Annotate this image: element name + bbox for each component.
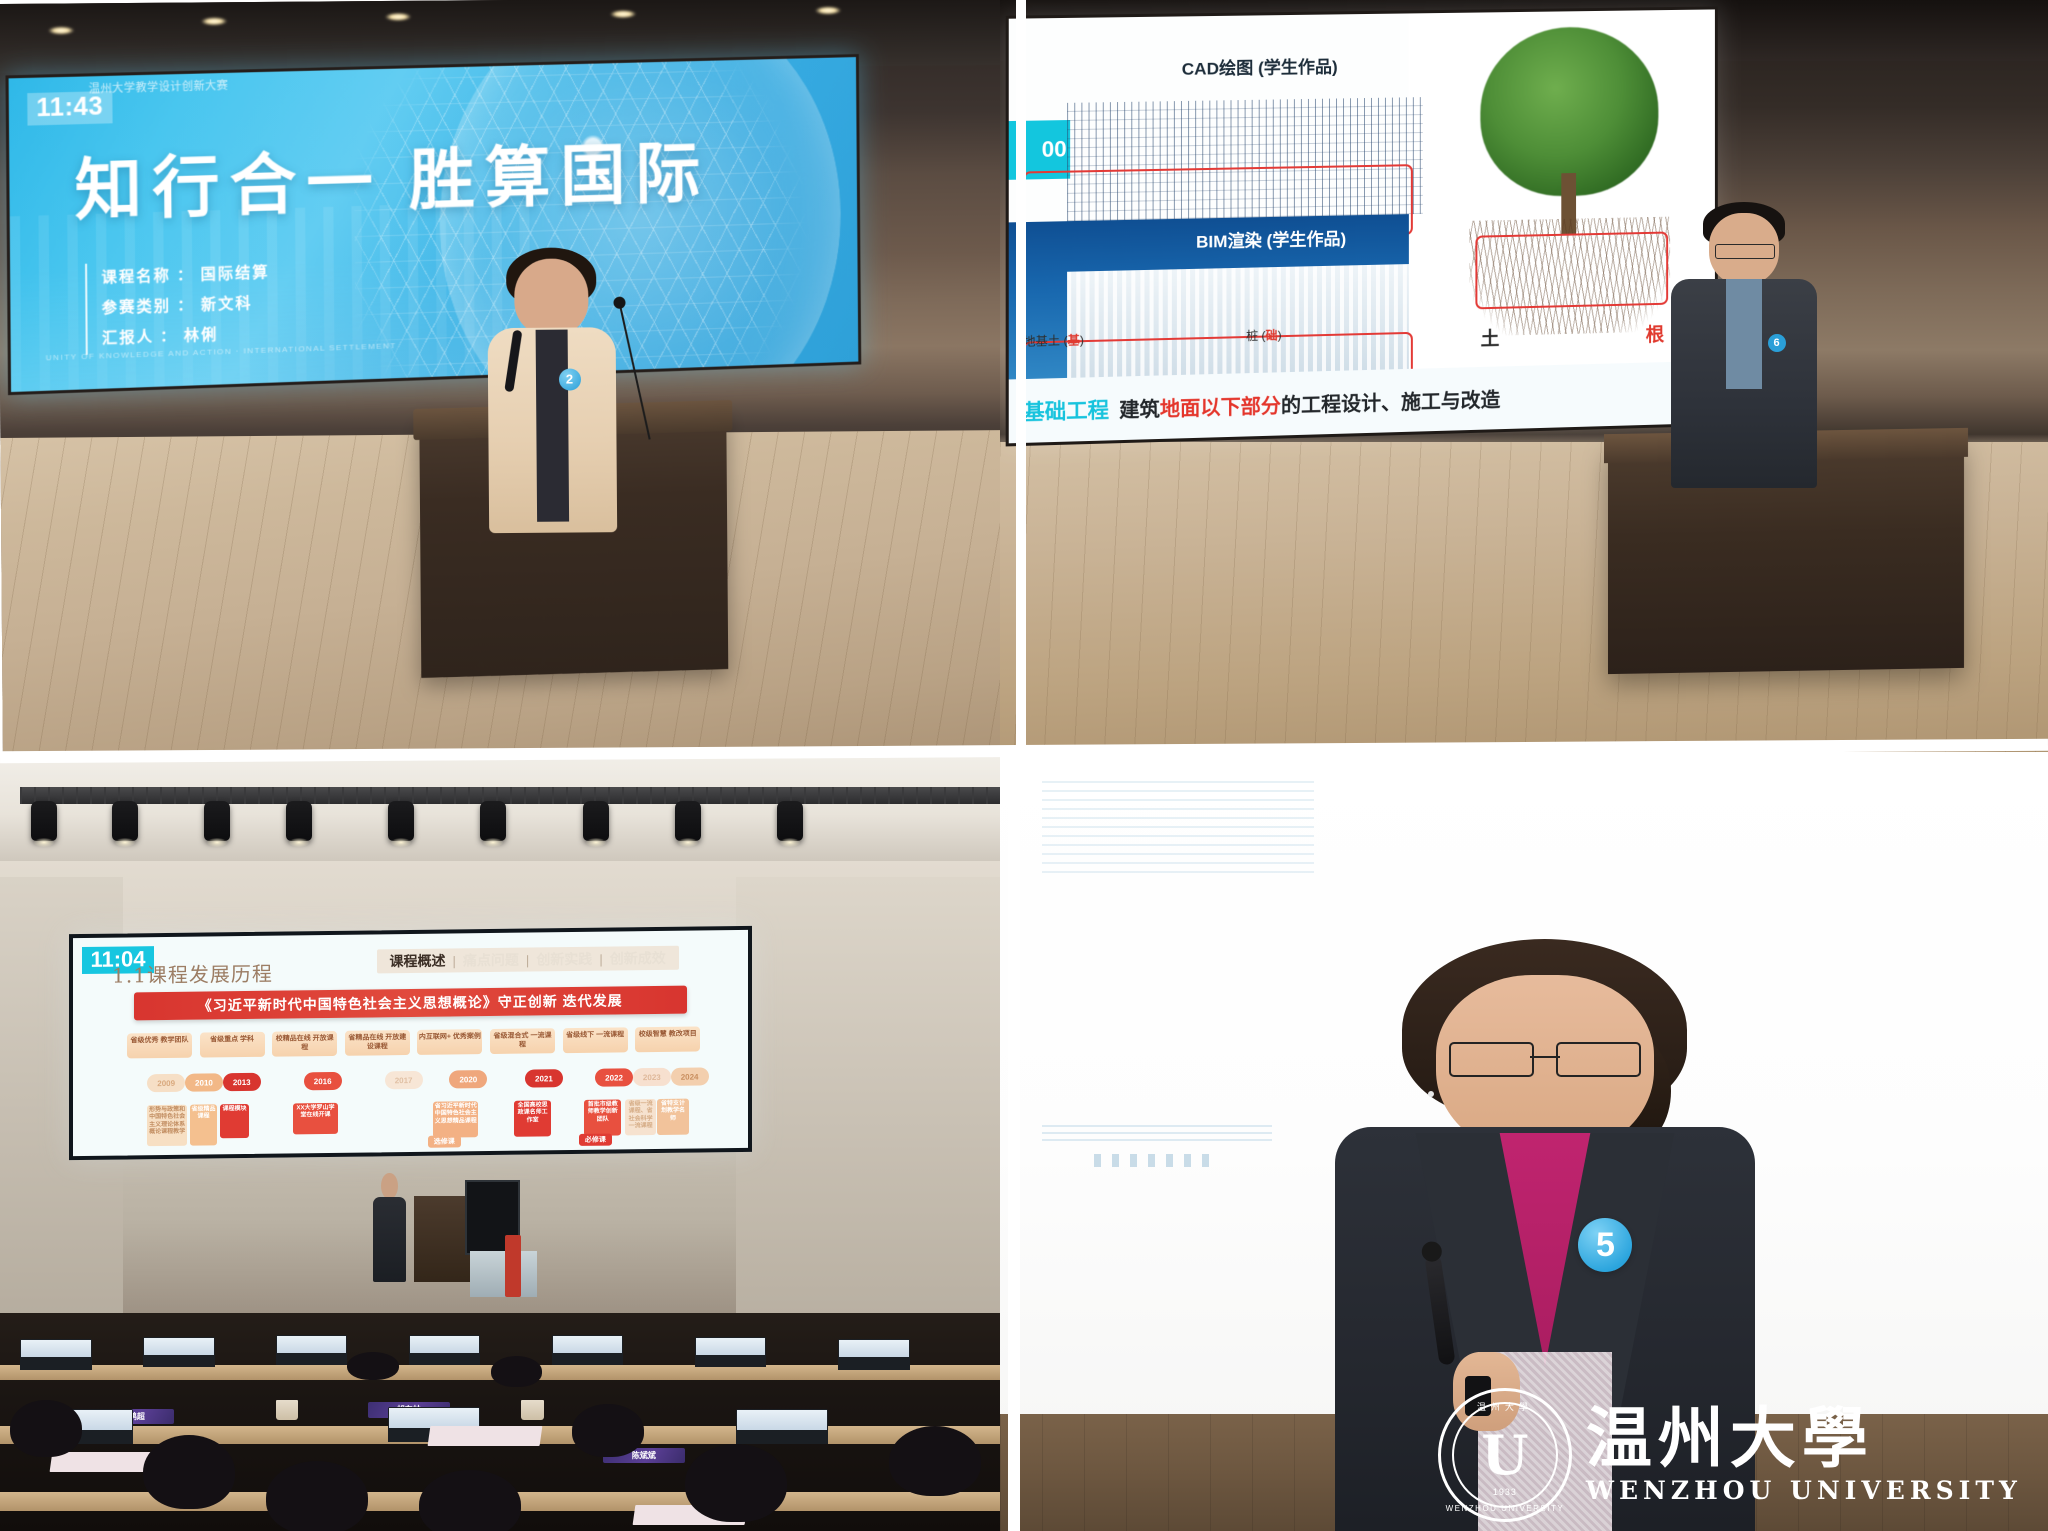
faded-slide-text (1094, 1154, 1209, 1167)
faded-slide-text (1042, 779, 1314, 873)
achievement-chip: 校级智慧 教改项目 (636, 1026, 701, 1052)
audience-head (889, 1426, 981, 1496)
seal-chinese-arc: 温州大學 (1441, 1400, 1569, 1413)
laptop-screen (389, 1408, 479, 1428)
laptop-screen (277, 1336, 347, 1353)
timeline-year: 2017 (385, 1071, 423, 1089)
panel-top-right-presentation: 00 CAD绘图 (学生作品) BIM渲染 (学生作品) 土 根 地基土 (基)… (1000, 0, 2048, 762)
slide-label-bim: BIM渲染 (学生作品) (1197, 224, 1347, 252)
tree-root-diagram: 土 根 (1431, 18, 1709, 406)
audience-head (685, 1444, 787, 1523)
slide-timeline-cards: 形势与政策和中国特色社会主义理论体系概论课程教学 省级精品课程 课程模块 XX大… (148, 1098, 688, 1150)
laptop-screen (839, 1340, 909, 1357)
laptop (838, 1339, 910, 1370)
presentation-screen: 11:04 1.1课程发展历程 课程概述 | 痛点问题 | 创新实践 | 创新成… (69, 925, 752, 1159)
laptop (276, 1335, 348, 1366)
presenter-person: 2 (484, 258, 619, 533)
eyeglasses-icon (1715, 244, 1776, 260)
eyeglasses-lens-left (1449, 1042, 1534, 1076)
fire-extinguisher-icon (505, 1235, 521, 1297)
slide-main-title: 知行合一胜算国际 (75, 119, 711, 234)
laptop (20, 1339, 92, 1370)
collage-seam-vertical-bottom (1008, 752, 1020, 1531)
spotlight-icon (112, 801, 138, 841)
laptop (552, 1335, 624, 1366)
paper-cup (521, 1400, 543, 1420)
spotlight-icon (583, 801, 609, 841)
timeline-pill-elective: 选修课 (428, 1135, 461, 1147)
audience-head (143, 1435, 235, 1509)
timeline-year: 2009 (148, 1074, 186, 1092)
shirt (1726, 279, 1761, 389)
spotlight-icon (480, 801, 506, 841)
timeline-year: 2024 (671, 1067, 709, 1085)
panel-top-left-presentation: 温州大学教学设计创新大赛 11:43 知行合一胜算国际 课程名称 ： 国际结算 … (0, 0, 1025, 766)
laptop-screen (410, 1336, 480, 1353)
university-logo: 温州大學 U 1933 WENZHOU UNIVERSITY 温州大學 WENZ… (1438, 1388, 2022, 1522)
seal-founding-year: 1933 (1441, 1487, 1569, 1497)
timeline-card: 全国高校思政课名师工作室 (515, 1100, 552, 1136)
ceiling-light-icon (610, 10, 636, 18)
right-wall-panel (736, 877, 1022, 1329)
eyeglasses-icon (1449, 1042, 1642, 1072)
photo-collage: 温州大学教学设计创新大赛 11:43 知行合一胜算国际 课程名称 ： 国际结算 … (0, 0, 2048, 1531)
spotlight-icon (675, 801, 701, 841)
audience-head (572, 1404, 644, 1456)
laptop-screen (553, 1336, 623, 1353)
laptop (736, 1409, 828, 1444)
timeline-year: 2016 (304, 1072, 342, 1090)
definition-highlight: 地面以下部分 (1160, 396, 1281, 421)
document-folder (50, 1452, 155, 1472)
label-root: 根 (1646, 320, 1665, 347)
ceiling (0, 0, 1020, 73)
laptop-screen (144, 1338, 214, 1355)
achievement-chip: 内互联网+ 优秀案例 (418, 1029, 483, 1055)
spotlight-icon (388, 801, 414, 841)
tab-innovation-practice[interactable]: 创新实践 (530, 949, 600, 970)
label-soil: 土 (1481, 324, 1500, 351)
university-name-block: 温州大學 WENZHOU UNIVERSITY (1586, 1404, 2022, 1505)
timeline-year: 2013 (223, 1073, 261, 1091)
laptop (695, 1337, 767, 1368)
definition-post: 的工程设计、施工与改造 (1281, 390, 1500, 418)
slide-timeline-years: 2009 2010 2013 2016 2017 2020 2021 2022 … (148, 1068, 688, 1101)
earring (1428, 1091, 1434, 1097)
head (514, 258, 589, 335)
audience-head (266, 1461, 368, 1531)
eyeglasses-lens-right (1556, 1042, 1641, 1076)
collage-seam-vertical-top (1016, 0, 1026, 762)
tab-pain-points[interactable]: 痛点问题 (456, 949, 526, 970)
audience-area: 陈鸿超 胡东林 陈斌斌 (0, 1313, 1022, 1531)
timeline-card: XX大学罗山学堂在线开课 (293, 1102, 338, 1134)
timeline-pill-required: 必修课 (579, 1133, 612, 1145)
caption-left-tail: ) (1080, 334, 1084, 348)
caption-mid-plain: 桩 ( (1247, 329, 1266, 344)
caption-foundation-soil: 地基土 (基) (1024, 332, 1085, 351)
university-name-cn: 温州大學 (1586, 1404, 2022, 1474)
audience-head (419, 1470, 521, 1531)
laptop-screen (696, 1338, 766, 1355)
seal-letter: U (1481, 1428, 1528, 1482)
tab-innovation-results[interactable]: 创新成效 (603, 948, 673, 969)
slide-title-part1: 知行合一 (75, 142, 384, 230)
slide-tab-bar: 课程概述 | 痛点问题 | 创新实践 | 创新成效 (377, 946, 679, 974)
timeline-year: 2022 (596, 1068, 634, 1086)
spotlight-icon (204, 801, 230, 841)
slide-meta-block: 课程名称 ： 国际结算 参赛类别 ： 新文科 汇报人 ： 林俐 (85, 258, 270, 355)
timeline-year: 2023 (633, 1068, 671, 1086)
seal-english-arc: WENZHOU UNIVERSITY (1441, 1504, 1569, 1513)
slide-clock-badge: 11:43 (27, 91, 112, 125)
definition-text: 建筑地面以下部分的工程设计、施工与改造 (1120, 384, 1501, 424)
timeline-card: 省级一流课程、省社会科学一流课程 (625, 1099, 657, 1135)
timeline-card: 首批市级教师教学创新团队 (585, 1099, 622, 1135)
laptop (143, 1337, 215, 1368)
timeline-year: 2020 (450, 1070, 488, 1088)
achievement-chip: 省级优秀 教学团队 (127, 1032, 192, 1058)
presentation-screen: 00 CAD绘图 (学生作品) BIM渲染 (学生作品) 土 根 地基土 (基)… (1006, 7, 1719, 447)
presenter-person (373, 1173, 406, 1282)
achievement-chip: 省级线下 一流课程 (563, 1027, 628, 1053)
highlight-box-roots (1476, 232, 1669, 309)
timeline-card: 课程模块 (221, 1104, 250, 1139)
audience-head (10, 1400, 82, 1457)
speaker-number-badge: 2 (558, 368, 580, 390)
slide-red-banner: 《习近平新时代中国特色社会主义思想概论》守正创新 迭代发展 (134, 985, 687, 1020)
laptop-screen (737, 1410, 827, 1430)
achievement-chip: 省级混合式 一流课程 (490, 1028, 555, 1054)
timeline-card: 省级精品课程 (191, 1104, 217, 1146)
timeline-card: 形势与政策和中国特色社会主义理论体系概论课程教学 (148, 1104, 188, 1146)
suit-jacket (373, 1197, 406, 1282)
spotlight-icon (286, 801, 312, 841)
slide-achievement-chips: 省级优秀 教学团队 省级重点 学科 校精品在线 开放课程 省精品在线 开放建设课… (127, 1026, 700, 1058)
achievement-chip: 校精品在线 开放课程 (273, 1030, 338, 1056)
definition-pre: 建筑 (1120, 399, 1161, 422)
tab-course-overview[interactable]: 课程概述 (383, 950, 453, 971)
panel-bottom-right-portrait: 5 温州大學 U 1933 WENZHOU UNIVERSITY 温州大學 WE… (1000, 752, 2048, 1531)
lighting-truss (20, 787, 1001, 804)
panel-bottom-left-lecture-hall: 11:04 1.1课程发展历程 课程概述 | 痛点问题 | 创新实践 | 创新成… (0, 752, 1022, 1531)
caption-mid-red: 础 (1266, 329, 1278, 343)
document-folder (428, 1426, 543, 1446)
slide-meta-category: 参赛类别 ： 新文科 (102, 288, 270, 324)
presentation-screen: 温州大学教学设计创新大赛 11:43 知行合一胜算国际 课程名称 ： 国际结算 … (6, 54, 862, 395)
achievement-chip: 省级重点 学科 (200, 1031, 265, 1057)
slide-section-title: 1.1课程发展历程 (113, 957, 274, 988)
slide-label-cad: CAD绘图 (学生作品) (1182, 53, 1338, 80)
caption-left-red: 基 (1068, 334, 1080, 348)
slide-title-part2: 胜算国际 (409, 133, 711, 219)
achievement-chip: 省精品在线 开放建设课程 (345, 1030, 410, 1056)
definition-keyword: 基础工程 (1024, 394, 1110, 427)
university-seal-icon: 温州大學 U 1933 WENZHOU UNIVERSITY (1438, 1388, 1572, 1522)
faded-slide-text (1042, 1120, 1273, 1140)
caption-mid-tail: ) (1278, 329, 1282, 343)
timeline-year: 2010 (185, 1073, 223, 1091)
presenter-person: 6 (1671, 213, 1818, 487)
audience-head (347, 1352, 398, 1380)
inner-top (536, 330, 569, 522)
spotlight-icon (31, 801, 57, 841)
university-name-en: WENZHOU UNIVERSITY (1586, 1476, 2022, 1505)
paper-cup (276, 1400, 298, 1420)
side-control-panel (470, 1251, 536, 1298)
spotlight-icon (777, 801, 803, 841)
audience-head (491, 1356, 542, 1387)
laptop-screen (21, 1340, 91, 1357)
caption-left-plain: 地基土 ( (1024, 334, 1068, 349)
head (381, 1173, 397, 1199)
ceiling-light-icon (48, 26, 74, 34)
caption-pile-foundation: 桩 (础) (1247, 327, 1283, 345)
timeline-card: 省习近平新时代中国特色社会主义思想精品课程 (434, 1101, 479, 1138)
timeline-year: 2021 (525, 1069, 563, 1087)
laptop (409, 1335, 481, 1366)
speaker-number-badge: 6 (1768, 334, 1786, 352)
timeline-card: 省特支计划教学名师 (658, 1098, 690, 1134)
lectern (414, 1196, 470, 1282)
